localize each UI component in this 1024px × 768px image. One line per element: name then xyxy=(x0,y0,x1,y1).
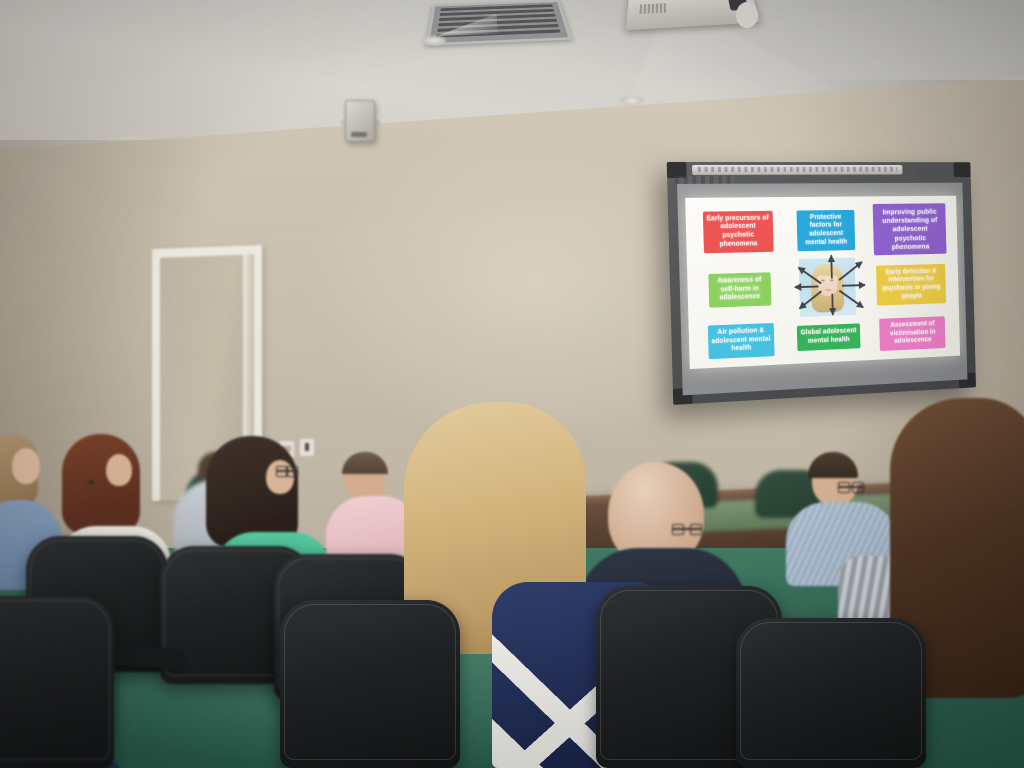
slide-cell: Assessment of victimisation in adolescen… xyxy=(872,313,953,354)
wall-switch-icon[interactable] xyxy=(299,438,315,457)
slide-node-air-pollution: Air pollution & adolescent mental health xyxy=(708,323,775,359)
eyeglasses-icon xyxy=(838,486,864,488)
slide-node-global-mental-health: Global adolescent mental health xyxy=(797,324,861,351)
slide-cell: Awareness of self-harm in adolescence xyxy=(695,259,784,321)
wall-speaker-icon xyxy=(345,100,375,142)
slide-arrow-right xyxy=(842,284,865,287)
office-chair[interactable] xyxy=(280,600,460,768)
projector-mount xyxy=(736,2,758,28)
slide-diagram: Early precursors of adolescent psychotic… xyxy=(685,196,960,369)
slide-node-early-detection: Early detection & intervention for psych… xyxy=(876,264,946,306)
slide-cell: Global adolescent mental health xyxy=(786,316,871,358)
conference-room-photo: Early precursors of adolescent psychotic… xyxy=(0,0,1024,768)
slide-node-self-harm-awareness: Awareness of self-harm in adolescence xyxy=(708,272,771,307)
office-chair[interactable] xyxy=(736,618,926,768)
eyeglasses-icon xyxy=(672,528,702,530)
board-corner xyxy=(953,162,970,177)
eyeglasses-icon xyxy=(276,470,298,472)
slide-cell: Protective factors for adolescent mental… xyxy=(783,204,869,257)
downlight-icon xyxy=(620,96,644,105)
projected-slide: Early precursors of adolescent psychotic… xyxy=(685,196,960,369)
office-chair[interactable] xyxy=(0,596,114,768)
downlight-icon xyxy=(422,36,446,45)
slide-node-protective-factors: Protective factors for adolescent mental… xyxy=(796,210,855,252)
slide-node-early-precursors: Early precursors of adolescent psychotic… xyxy=(703,211,774,254)
ceiling-air-vent-icon xyxy=(425,0,572,46)
board-surface: Early precursors of adolescent psychotic… xyxy=(677,183,967,396)
slide-cell: Air pollution & adolescent mental health xyxy=(696,320,785,363)
slide-cell: Improving public understanding of adoles… xyxy=(869,203,951,255)
slide-cell: Early detection & intervention for psych… xyxy=(870,255,952,314)
pen-tray[interactable] xyxy=(692,165,902,175)
slide-node-victimisation: Assessment of victimisation in adolescen… xyxy=(879,316,945,351)
slide-arrow-top xyxy=(830,255,832,278)
slide-node-public-understanding: Improving public understanding of adoles… xyxy=(873,203,947,255)
interactive-whiteboard[interactable]: Early precursors of adolescent psychotic… xyxy=(667,162,976,405)
slide-cell: Early precursors of adolescent psychotic… xyxy=(693,205,782,260)
eyeglasses-icon xyxy=(88,480,94,485)
board-brand-logo xyxy=(675,176,735,184)
